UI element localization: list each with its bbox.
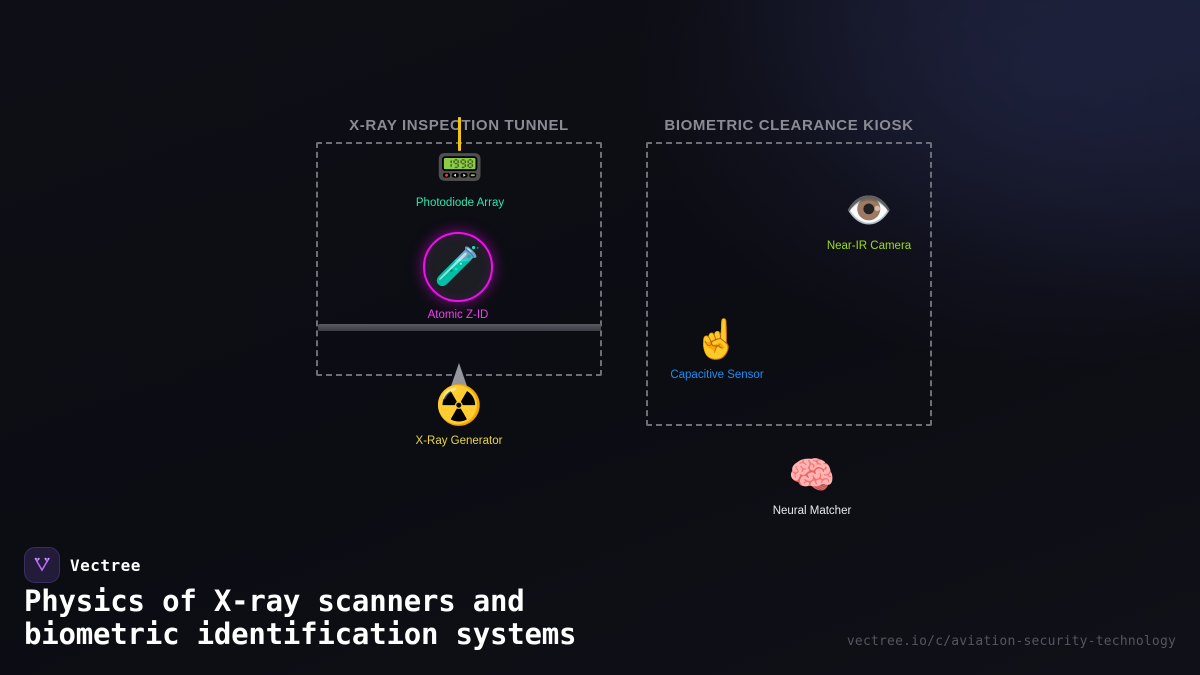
node-label-near-ir-camera: Near-IR Camera [827,240,911,254]
radioactive-icon: ☢️ [435,384,482,428]
node-photodiode-array[interactable]: 📟 Photodiode Array [380,146,540,211]
page-title: Physics of X-ray scanners and biometric … [24,585,824,651]
node-label-capacitive-sensor: Capacitive Sensor [670,369,763,383]
brain-icon: 🧠 [788,454,835,498]
vectree-logo-icon [24,547,60,583]
group-box-biometric-kiosk [646,142,932,426]
node-near-ir-camera[interactable]: 👁️ Near-IR Camera [789,189,949,254]
footer: Vectree Physics of X-ray scanners and bi… [0,535,1200,675]
node-atomic-z-id[interactable]: 🧪 Atomic Z-ID [378,232,538,323]
node-label-atomic-z-id: Atomic Z-ID [428,309,489,323]
site-url: vectree.io/c/aviation-security-technolog… [847,634,1176,649]
brand-name: Vectree [70,556,141,575]
group-title-biometric-kiosk: BIOMETRIC CLEARANCE KIOSK [646,117,932,134]
eye-icon: 👁️ [845,189,892,233]
node-label-x-ray-generator: X-Ray Generator [416,435,503,449]
conveyor-belt [318,324,601,331]
node-label-photodiode-array: Photodiode Array [416,197,504,211]
page-title-line-2: biometric identification systems [24,618,824,651]
node-neural-matcher[interactable]: 🧠 Neural Matcher [732,454,892,519]
test-tube-icon: 🧪 [423,232,493,302]
brand[interactable]: Vectree [24,547,141,583]
pointing-up-finger-icon: ☝️ [693,318,740,362]
pager-icon: 📟 [436,146,483,190]
page-title-line-1: Physics of X-ray scanners and [24,585,824,618]
node-capacitive-sensor[interactable]: ☝️ Capacitive Sensor [637,318,797,383]
node-x-ray-generator[interactable]: ☢️ X-Ray Generator [379,384,539,449]
node-label-neural-matcher: Neural Matcher [773,505,852,519]
screenshot-root: X-RAY INSPECTION TUNNEL BIOMETRIC CLEARA… [0,0,1200,675]
